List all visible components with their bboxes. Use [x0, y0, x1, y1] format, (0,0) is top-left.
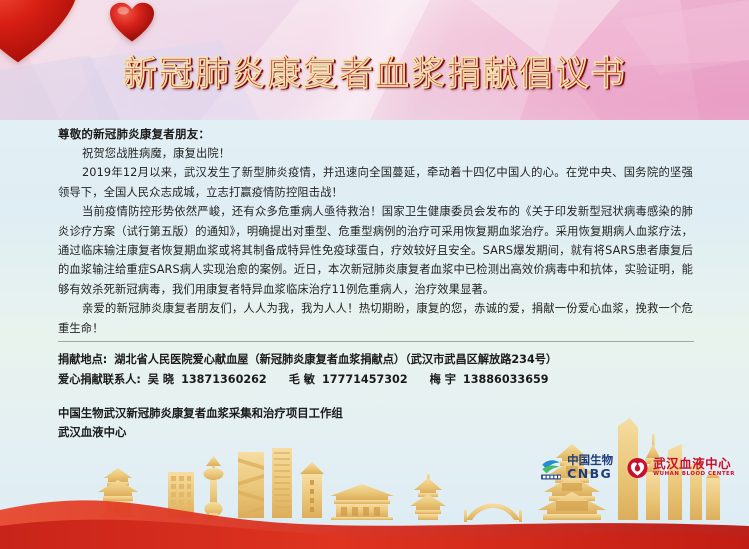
cnbg-logo-cn: 中国生物	[567, 455, 613, 467]
paragraph-outbreak: 2019年12月以来，武汉发生了新型肺炎疫情，并迅速向全国蔓延，牵动着十四亿中国…	[58, 163, 693, 202]
cnbg-logo-en: CNBG	[567, 468, 613, 481]
contact-person-name: 吴 晓	[148, 373, 174, 386]
cnbg-logo-text: 中国生物 CNBG	[567, 455, 613, 480]
contact-person-name: 毛 敏	[289, 373, 315, 386]
red-wave-front	[0, 520, 749, 549]
wuhan-blood-center-logo: 武汉血液中心 WUHAN BLOOD CENTER	[627, 457, 735, 479]
donation-location-value: 湖北省人民医院爱心献血屋（新冠肺炎康复者血浆捐献点）（武汉市武昌区解放路234号…	[114, 353, 557, 366]
salutation: 尊敬的新冠肺炎康复者朋友：	[58, 124, 693, 144]
logo-row: 中国生物 CNBG 武汉血液中心 WUHAN BLOOD CENTER	[540, 455, 735, 480]
section-divider	[58, 341, 694, 342]
paragraph-plasma-therapy: 当前疫情防控形势依然严峻，还有众多危重病人亟待救治！国家卫生健康委员会发布的《关…	[58, 202, 693, 299]
donation-location-label: 捐献地点:	[58, 353, 107, 366]
letter-body: 尊敬的新冠肺炎康复者朋友： 祝贺您战胜病魔，康复出院！ 2019年12月以来，武…	[0, 120, 749, 335]
contact-persons-row: 爱心捐献联系人:吴 晓13871360262毛 敏17771457302梅 宇1…	[58, 370, 708, 390]
contact-info: 捐献地点:湖北省人民医院爱心献血屋（新冠肺炎康复者血浆捐献点）（武汉市武昌区解放…	[58, 350, 708, 390]
donation-location-row: 捐献地点:湖北省人民医院爱心献血屋（新冠肺炎康复者血浆捐献点）（武汉市武昌区解放…	[58, 350, 708, 370]
wbc-logo-text: 武汉血液中心 WUHAN BLOOD CENTER	[653, 458, 735, 478]
red-wave-back	[0, 500, 749, 549]
contact-person-phone[interactable]: 13886033659	[463, 373, 549, 386]
signature-organization: 中国生物武汉新冠肺炎康复者血浆采集和治疗项目工作组	[58, 404, 578, 423]
signature-center: 武汉血液中心	[58, 423, 578, 442]
poster-root: 新冠肺炎康复者血浆捐献倡议书 尊敬的新冠肺炎康复者朋友： 祝贺您战胜病魔，康复出…	[0, 0, 749, 549]
poster-title: 新冠肺炎康复者血浆捐献倡议书	[0, 46, 749, 95]
heart-icon	[110, 2, 154, 44]
contact-persons-label: 爱心捐献联系人:	[58, 373, 141, 386]
contact-person-phone[interactable]: 17771457302	[322, 373, 408, 386]
signature-block: 中国生物武汉新冠肺炎康复者血浆采集和治疗项目工作组 武汉血液中心	[58, 404, 578, 442]
blood-drop-heart-icon	[627, 457, 648, 479]
poster-header: 新冠肺炎康复者血浆捐献倡议书	[0, 0, 749, 120]
cnbg-leaf-icon	[540, 456, 562, 480]
wbc-logo-cn: 武汉血液中心	[653, 458, 735, 471]
wbc-logo-en: WUHAN BLOOD CENTER	[653, 472, 735, 477]
contact-person-phone[interactable]: 13871360262	[181, 373, 267, 386]
contact-person-name: 梅 宇	[430, 373, 456, 386]
paragraph-congrats: 祝贺您战胜病魔，康复出院！	[58, 144, 693, 163]
paragraph-appeal: 亲爱的新冠肺炎康复者朋友们，人人为我，我为人人！热切期盼，康复的您，赤诚的爱，捐…	[58, 299, 693, 338]
cnbg-logo: 中国生物 CNBG	[540, 455, 613, 480]
